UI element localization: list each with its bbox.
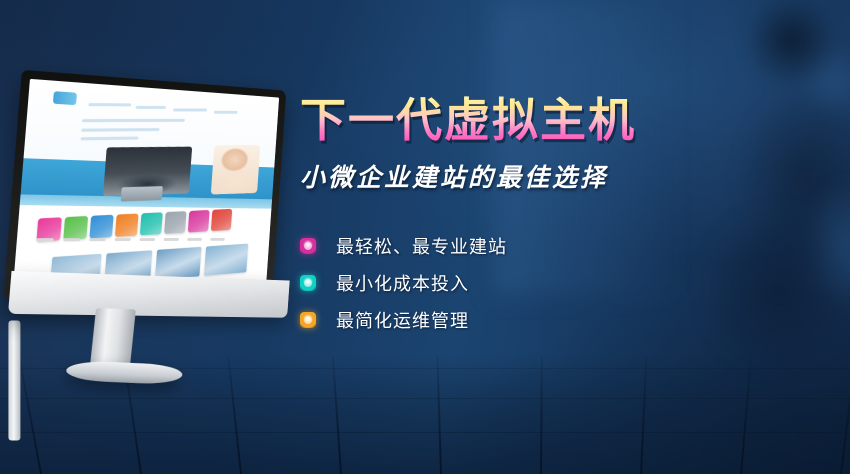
site-person-photo — [211, 145, 261, 195]
site-app-icon-caption — [37, 239, 54, 242]
site-app-icon — [211, 209, 232, 231]
partial-monitor-edge-icon — [8, 321, 20, 441]
page-title: 下一代虚拟主机 — [300, 96, 680, 146]
copy-block: 下一代虚拟主机 小微企业建站的最佳选择 最轻松、最专业建站最小化成本投入最简化运… — [300, 96, 680, 339]
site-nav-line — [214, 111, 238, 114]
site-product-base — [121, 186, 163, 201]
page-subtitle: 小微企业建站的最佳选择 — [300, 158, 680, 194]
feature-list: 最轻松、最专业建站最小化成本投入最简化运维管理 — [300, 228, 680, 339]
feature-list-item-label: 最小化成本投入 — [336, 270, 469, 296]
feature-list-item: 最小化成本投入 — [300, 265, 680, 302]
site-nav-line — [82, 119, 185, 122]
site-nav-line — [81, 128, 159, 132]
bullet-dot-icon — [300, 312, 316, 328]
site-app-icon-caption — [187, 238, 202, 240]
site-app-icon — [37, 217, 62, 241]
site-nav-line — [136, 106, 166, 109]
monitor-foot — [64, 360, 184, 385]
site-app-icon — [64, 216, 88, 240]
hero-banner: 下一代虚拟主机 小微企业建站的最佳选择 最轻松、最专业建站最小化成本投入最简化运… — [0, 0, 850, 474]
feature-list-item: 最简化运维管理 — [300, 302, 680, 339]
bullet-dot-icon — [300, 238, 316, 254]
site-app-icon-caption — [164, 238, 179, 241]
site-nav-line — [173, 108, 207, 111]
floor-grid-horizontal-line — [0, 432, 850, 433]
site-nav-line — [89, 103, 131, 106]
monitor-screen — [13, 79, 279, 290]
site-app-icon-caption — [210, 238, 224, 240]
site-logo-icon — [53, 91, 77, 105]
site-app-icon-caption — [115, 239, 131, 242]
bullet-dot-icon — [300, 275, 316, 291]
site-app-icon — [188, 210, 209, 232]
site-app-icon-caption — [139, 238, 154, 241]
feature-list-item-label: 最简化运维管理 — [336, 307, 469, 333]
site-app-icon-row — [37, 208, 249, 242]
site-app-icon-caption — [63, 239, 80, 242]
site-app-icon — [90, 214, 114, 238]
feature-list-item: 最轻松、最专业建站 — [300, 228, 680, 265]
feature-list-item-label: 最轻松、最专业建站 — [336, 233, 507, 259]
imac-monitor-icon — [5, 77, 311, 402]
site-app-icon — [115, 213, 138, 236]
website-preview — [13, 79, 279, 290]
site-app-icon-caption — [89, 239, 105, 242]
site-app-icon — [164, 211, 186, 234]
monitor-bezel — [3, 70, 286, 300]
site-thumbnail — [155, 247, 201, 280]
site-app-icon — [140, 212, 163, 235]
site-thumbnail — [204, 244, 248, 276]
